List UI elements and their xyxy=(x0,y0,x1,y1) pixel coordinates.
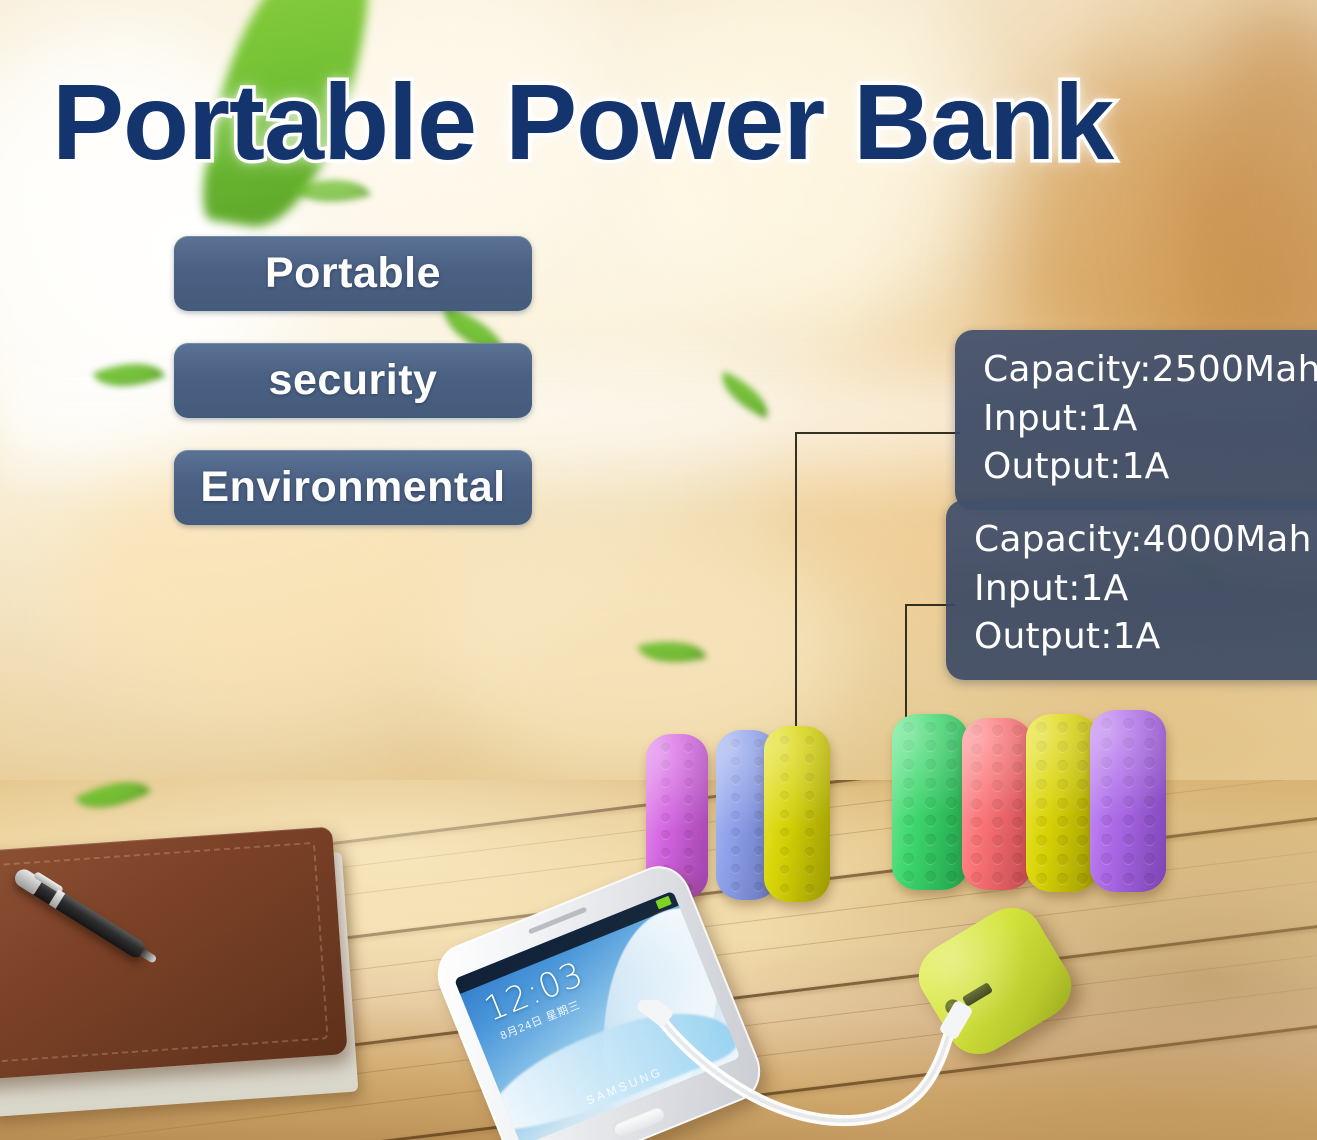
texture-dot xyxy=(903,722,914,733)
texture-dot xyxy=(661,830,670,839)
texture-dot xyxy=(661,743,670,752)
texture-dot xyxy=(684,778,693,787)
texture-dot xyxy=(992,762,1003,773)
texture-dot xyxy=(1101,853,1112,864)
texture-dot xyxy=(780,773,789,782)
texture-dots xyxy=(1026,714,1098,892)
texture-dot xyxy=(1057,873,1068,884)
texture-dot xyxy=(1057,816,1068,827)
texture-dot xyxy=(1057,760,1068,771)
texture-dot xyxy=(780,847,789,856)
texture-dot xyxy=(1101,834,1112,845)
texture-dot xyxy=(903,815,914,826)
texture-dot xyxy=(1036,760,1047,771)
texture-dot xyxy=(1036,779,1047,790)
texture-dot xyxy=(1123,757,1134,768)
texture-dot xyxy=(731,793,740,802)
texture-dot xyxy=(925,740,936,751)
texture-dot xyxy=(1123,873,1134,884)
texture-dot xyxy=(731,757,740,766)
texture-dot xyxy=(780,884,789,893)
texture-dot xyxy=(925,778,936,789)
texture-dot xyxy=(684,830,693,839)
texture-dot xyxy=(1101,815,1112,826)
texture-dot xyxy=(925,871,936,882)
texture-dot xyxy=(754,793,763,802)
texture-dot xyxy=(1077,760,1088,771)
texture-dot xyxy=(805,847,814,856)
texture-dot xyxy=(780,754,789,763)
spec-output: Output:1A xyxy=(974,613,1317,662)
texture-dot xyxy=(1012,725,1023,736)
spec-input: Input:1A xyxy=(974,565,1317,614)
texture-dot xyxy=(925,759,936,770)
texture-dot xyxy=(780,791,789,800)
feature-badge-list: Portable security Environmental xyxy=(174,236,532,557)
texture-dot xyxy=(1057,741,1068,752)
texture-dot xyxy=(1057,722,1068,733)
texture-dot xyxy=(992,744,1003,755)
texture-dot xyxy=(1012,817,1023,828)
texture-dot xyxy=(1077,779,1088,790)
texture-dot xyxy=(805,884,814,893)
texture-dot xyxy=(903,759,914,770)
texture-dot xyxy=(946,759,957,770)
battery-icon xyxy=(655,896,671,910)
texture-dot xyxy=(925,797,936,808)
texture-dot xyxy=(805,865,814,874)
callout-line-2500 xyxy=(795,432,960,434)
texture-dot xyxy=(661,848,670,857)
texture-dot xyxy=(1101,873,1112,884)
texture-dot xyxy=(1012,835,1023,846)
texture-dot xyxy=(1057,779,1068,790)
texture-dot xyxy=(754,864,763,873)
texture-dot xyxy=(1012,780,1023,791)
texture-dot xyxy=(1077,835,1088,846)
texture-dot xyxy=(684,743,693,752)
texture-dot xyxy=(754,828,763,837)
texture-dot xyxy=(780,828,789,837)
texture-dot xyxy=(661,813,670,822)
texture-dot xyxy=(1036,798,1047,809)
texture-dot xyxy=(1036,722,1047,733)
texture-dot xyxy=(1012,762,1023,773)
texture-dot xyxy=(684,865,693,874)
feature-badge-environmental[interactable]: Environmental xyxy=(174,450,532,525)
texture-dot xyxy=(1057,798,1068,809)
spec-capacity: Capacity:4000Mah xyxy=(974,516,1317,565)
texture-dot xyxy=(754,739,763,748)
texture-dot xyxy=(1101,776,1112,787)
texture-dot xyxy=(1036,816,1047,827)
notebook-cover xyxy=(0,826,348,1080)
texture-dot xyxy=(780,810,789,819)
texture-dot xyxy=(1077,873,1088,884)
texture-dot xyxy=(946,740,957,751)
texture-dot xyxy=(754,811,763,820)
texture-dot xyxy=(661,760,670,769)
texture-dot xyxy=(925,815,936,826)
texture-dot xyxy=(1057,835,1068,846)
texture-dot xyxy=(1012,799,1023,810)
texture-dots xyxy=(1090,710,1166,892)
texture-dot xyxy=(1077,854,1088,865)
texture-dot xyxy=(903,853,914,864)
texture-dot xyxy=(946,797,957,808)
texture-dot xyxy=(731,828,740,837)
texture-dot xyxy=(805,810,814,819)
page-title: Portable Power Bank xyxy=(52,68,1252,176)
texture-dot xyxy=(925,853,936,864)
texture-dot xyxy=(684,795,693,804)
texture-dot xyxy=(971,872,982,883)
texture-dot xyxy=(1077,798,1088,809)
powerbank-wide-coral[interactable] xyxy=(962,718,1032,890)
texture-dot xyxy=(780,865,789,874)
texture-dot xyxy=(1123,815,1134,826)
notebook-stitching xyxy=(0,842,329,1064)
texture-dot xyxy=(971,817,982,828)
texture-dot xyxy=(992,799,1003,810)
powerbank-wide-yellow[interactable] xyxy=(1026,714,1098,892)
texture-dot xyxy=(1144,776,1155,787)
texture-dot xyxy=(805,791,814,800)
texture-dot xyxy=(1144,815,1155,826)
texture-dot xyxy=(992,872,1003,883)
texture-dot xyxy=(971,725,982,736)
texture-dot xyxy=(1123,718,1134,729)
spec-box-4000mah: Capacity:4000Mah Input:1A Output:1A xyxy=(946,500,1317,680)
texture-dot xyxy=(1101,738,1112,749)
texture-dot xyxy=(731,811,740,820)
texture-dot xyxy=(1036,873,1047,884)
texture-dot xyxy=(1077,722,1088,733)
texture-dot xyxy=(903,778,914,789)
texture-dots xyxy=(962,718,1032,890)
texture-dot xyxy=(946,815,957,826)
callout-line-4000 xyxy=(905,604,907,724)
feature-badge-security[interactable]: security xyxy=(174,343,532,418)
powerbank-wide-green[interactable] xyxy=(892,714,968,890)
texture-dot xyxy=(992,725,1003,736)
texture-dot xyxy=(754,882,763,891)
texture-dot xyxy=(971,744,982,755)
texture-dot xyxy=(1144,873,1155,884)
texture-dot xyxy=(1144,853,1155,864)
feature-badge-label: Environmental xyxy=(200,463,505,512)
texture-dot xyxy=(903,871,914,882)
spec-output: Output:1A xyxy=(983,443,1317,492)
texture-dot xyxy=(1144,796,1155,807)
texture-dot xyxy=(1123,796,1134,807)
texture-dot xyxy=(731,846,740,855)
texture-dot xyxy=(1123,738,1134,749)
texture-dot xyxy=(1101,757,1112,768)
texture-dot xyxy=(946,871,957,882)
feature-badge-portable[interactable]: Portable xyxy=(174,236,532,311)
texture-dot xyxy=(780,736,789,745)
spec-box-2500mah: Capacity:2500Mah Input:1A Output:1A xyxy=(955,330,1317,510)
spec-capacity: Capacity:2500Mah xyxy=(983,346,1317,395)
texture-dot xyxy=(946,853,957,864)
callout-line-2500 xyxy=(795,432,797,754)
texture-dot xyxy=(1123,834,1134,845)
texture-dot xyxy=(1012,853,1023,864)
texture-dot xyxy=(992,835,1003,846)
texture-dot xyxy=(731,775,740,784)
texture-dot xyxy=(754,775,763,784)
powerbank-slim-yellow[interactable] xyxy=(764,726,830,902)
texture-dot xyxy=(1123,853,1134,864)
texture-dot xyxy=(1101,796,1112,807)
texture-dot xyxy=(925,722,936,733)
feature-badge-label: Portable xyxy=(265,249,441,298)
texture-dot xyxy=(946,834,957,845)
texture-dot xyxy=(971,853,982,864)
texture-dot xyxy=(903,834,914,845)
texture-dot xyxy=(1123,776,1134,787)
texture-dot xyxy=(971,799,982,810)
feature-badge-label: security xyxy=(269,356,438,405)
texture-dot xyxy=(805,736,814,745)
texture-dot xyxy=(971,780,982,791)
texture-dot xyxy=(1144,834,1155,845)
texture-dot xyxy=(805,754,814,763)
texture-dot xyxy=(925,834,936,845)
texture-dot xyxy=(1036,741,1047,752)
texture-dot xyxy=(992,853,1003,864)
texture-dot xyxy=(903,740,914,751)
texture-dot xyxy=(946,722,957,733)
texture-dot xyxy=(805,773,814,782)
texture-dot xyxy=(1144,757,1155,768)
pen-ring xyxy=(49,889,65,909)
texture-dot xyxy=(684,848,693,857)
product-banner: Portable Power Bank Portable security En… xyxy=(0,0,1317,1140)
texture-dot xyxy=(661,795,670,804)
texture-dot xyxy=(903,797,914,808)
texture-dot xyxy=(1012,744,1023,755)
texture-dot xyxy=(1057,854,1068,865)
texture-dot xyxy=(754,757,763,766)
texture-dot xyxy=(1012,872,1023,883)
notebook xyxy=(0,814,382,1140)
texture-dot xyxy=(971,762,982,773)
powerbank-wide-purple[interactable] xyxy=(1090,710,1166,892)
texture-dot xyxy=(731,882,740,891)
spec-input: Input:1A xyxy=(983,395,1317,444)
texture-dot xyxy=(731,739,740,748)
texture-dot xyxy=(805,828,814,837)
texture-dot xyxy=(1077,816,1088,827)
texture-dot xyxy=(661,778,670,787)
texture-dot xyxy=(684,813,693,822)
texture-dot xyxy=(992,817,1003,828)
texture-dots xyxy=(764,726,830,902)
texture-dot xyxy=(1144,718,1155,729)
texture-dot xyxy=(1077,741,1088,752)
texture-dot xyxy=(971,835,982,846)
texture-dot xyxy=(1036,854,1047,865)
texture-dot xyxy=(992,780,1003,791)
texture-dot xyxy=(754,846,763,855)
texture-dot xyxy=(684,760,693,769)
texture-dot xyxy=(1101,718,1112,729)
texture-dots xyxy=(892,714,968,890)
texture-dot xyxy=(731,864,740,873)
texture-dot xyxy=(1036,835,1047,846)
texture-dot xyxy=(1144,738,1155,749)
texture-dot xyxy=(946,778,957,789)
